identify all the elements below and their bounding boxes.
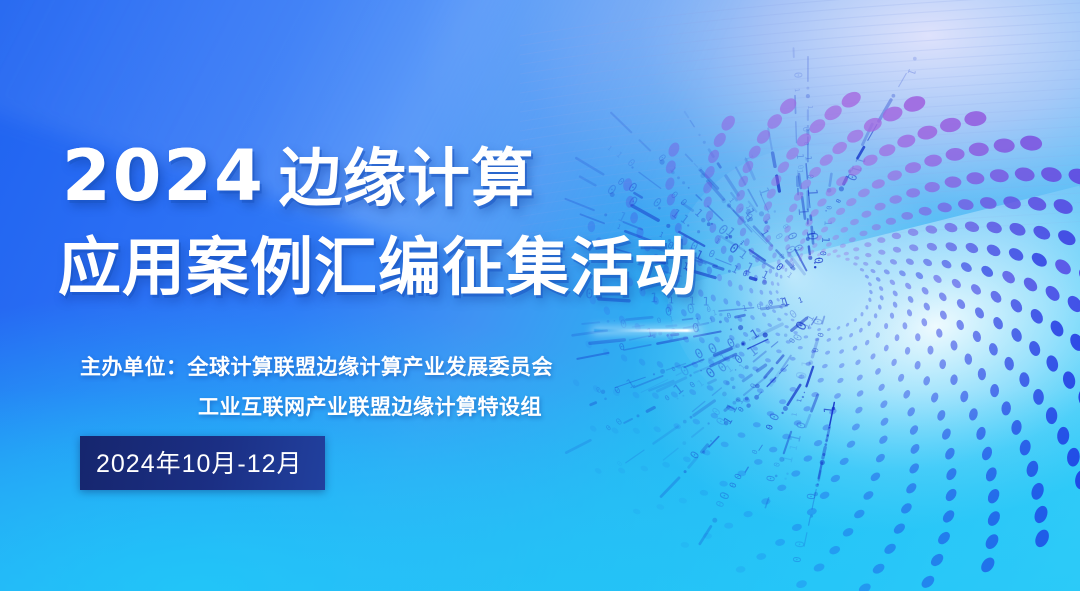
text-content: 2024 边缘计算 应用案例汇编征集活动 主办单位：全球计算联盟边缘计算产业发展… — [0, 0, 720, 591]
svg-text:0: 0 — [825, 205, 833, 210]
svg-text:0: 0 — [793, 540, 808, 549]
svg-text:0: 0 — [765, 423, 776, 432]
svg-text:1: 1 — [905, 67, 917, 77]
svg-text:0: 0 — [791, 556, 804, 564]
organizer-line-1: 主办单位：全球计算联盟边缘计算产业发展委员会 — [80, 351, 553, 381]
svg-text:0: 0 — [751, 449, 760, 456]
svg-text:0: 0 — [728, 481, 739, 490]
svg-text:0: 0 — [800, 126, 812, 133]
svg-text:1: 1 — [806, 105, 814, 110]
event-date-badge: 2024年10月-12月 — [80, 436, 325, 490]
svg-text:1: 1 — [804, 188, 820, 197]
svg-text:1: 1 — [793, 88, 801, 93]
year-numeral: 2024 — [62, 138, 265, 214]
title-line-1: 2024 边缘计算 — [62, 138, 535, 217]
event-banner: 1010000111101100101111010110010010000011… — [0, 0, 1080, 591]
title-keyword: 边缘计算 — [279, 141, 535, 217]
svg-text:1: 1 — [788, 444, 800, 452]
svg-text:0: 0 — [791, 71, 804, 78]
title-line-2: 应用案例汇编征集活动 — [58, 228, 698, 308]
title-accent-line — [594, 329, 700, 332]
organizer-line-2: 工业互联网产业联盟边缘计算特设组 — [198, 391, 542, 421]
